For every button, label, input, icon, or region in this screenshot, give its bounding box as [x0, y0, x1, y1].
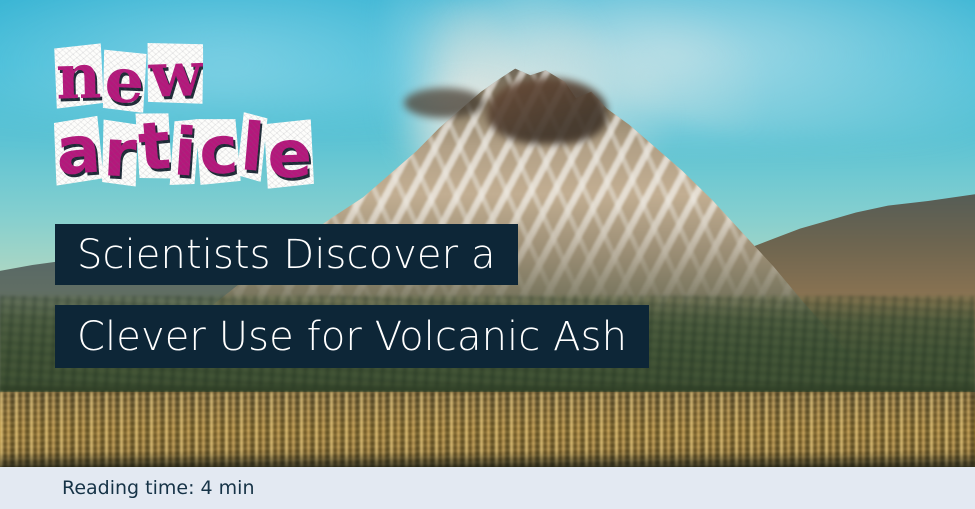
town-lower-shade — [0, 452, 975, 467]
article-hero-card: new article Scientists Discover a Clever… — [0, 0, 975, 509]
headline-line-2: Clever Use for Volcanic Ash — [55, 305, 649, 368]
footer-bar: Reading time: 4 min — [0, 467, 975, 509]
headline-line-1: Scientists Discover a — [55, 224, 518, 285]
sky-haze-glow-left — [0, 0, 439, 112]
reading-time-label: Reading time: 4 min — [62, 477, 255, 499]
crater-rim — [487, 78, 607, 144]
crater-rim — [404, 88, 484, 118]
